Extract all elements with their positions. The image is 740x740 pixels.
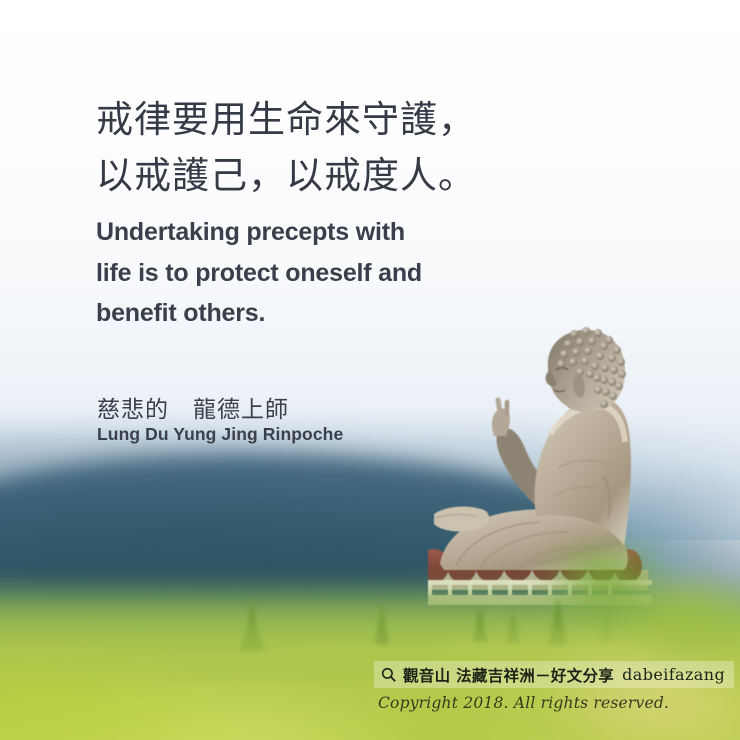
inspirational-quote-poster: 戒律要用生命來守護， 以戒護己，以戒度人。 Undertaking precep… <box>0 0 740 740</box>
text-overlay: 戒律要用生命來守護， 以戒護己，以戒度人。 Undertaking precep… <box>0 0 740 740</box>
quote-english-line-3: benefit others. <box>96 293 516 334</box>
watermark-channel-name: 觀音山 法藏吉祥洲－好文分享 <box>403 664 614 686</box>
copyright-notice: Copyright 2018. All rights reserved. <box>378 694 669 712</box>
search-icon <box>381 667 396 682</box>
quote-english-line-1: Undertaking precepts with <box>96 212 516 253</box>
quote-english-line-2: life is to protect oneself and <box>96 253 516 294</box>
quote-english: Undertaking precepts with life is to pro… <box>96 212 516 334</box>
quote-chinese: 戒律要用生命來守護， 以戒護己，以戒度人。 <box>96 92 526 203</box>
watermark-handle: dabeifazang <box>622 665 725 684</box>
attribution-english: Lung Du Yung Jing Rinpoche <box>97 424 343 445</box>
attribution-chinese: 慈悲的 龍德上師 <box>97 390 289 424</box>
watermark-bar: 觀音山 法藏吉祥洲－好文分享 dabeifazang <box>374 661 734 688</box>
